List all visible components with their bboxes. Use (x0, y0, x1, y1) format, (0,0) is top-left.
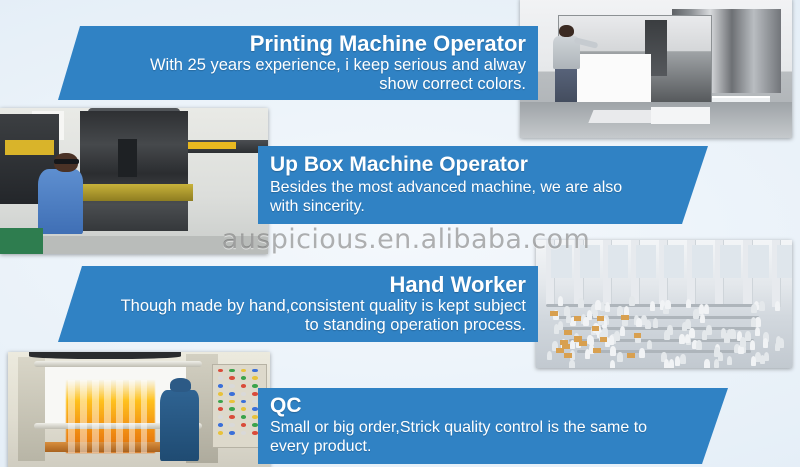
offset-printing-press-photo (520, 0, 792, 138)
section-banner-hand-worker: Hand Worker Though made by hand,consiste… (58, 266, 538, 342)
coating-line-photo (8, 352, 270, 467)
section-title: Printing Machine Operator (88, 32, 526, 55)
section-description-line-2: to standing operation process. (84, 316, 526, 335)
assembly-hall-photo (536, 240, 792, 368)
section-description-line-2: every product. (270, 438, 712, 457)
section-description-line-1: With 25 years experience, i keep serious… (88, 56, 526, 75)
section-description-line-1: Small or big order,Strick quality contro… (270, 419, 712, 438)
section-title: QC (270, 395, 712, 417)
section-description-line-2: with sincerity. (270, 198, 690, 217)
watermark-text: auspicious.en.alibaba.com (196, 222, 616, 256)
section-title: Hand Worker (84, 273, 526, 296)
section-title: Up Box Machine Operator (270, 154, 690, 176)
section-description-line-1: Besides the most advanced machine, we ar… (270, 179, 690, 198)
section-description-line-2: show correct colors. (88, 75, 526, 94)
section-banner-qc: QC Small or big order,Strick quality con… (258, 388, 728, 464)
section-banner-up-box-machine-operator: Up Box Machine Operator Besides the most… (258, 146, 708, 224)
section-description-line-1: Though made by hand,consistent quality i… (84, 297, 526, 316)
section-banner-printing-machine-operator: Printing Machine Operator With 25 years … (58, 26, 538, 100)
promo-banner-stage: Printing Machine Operator With 25 years … (0, 0, 800, 467)
